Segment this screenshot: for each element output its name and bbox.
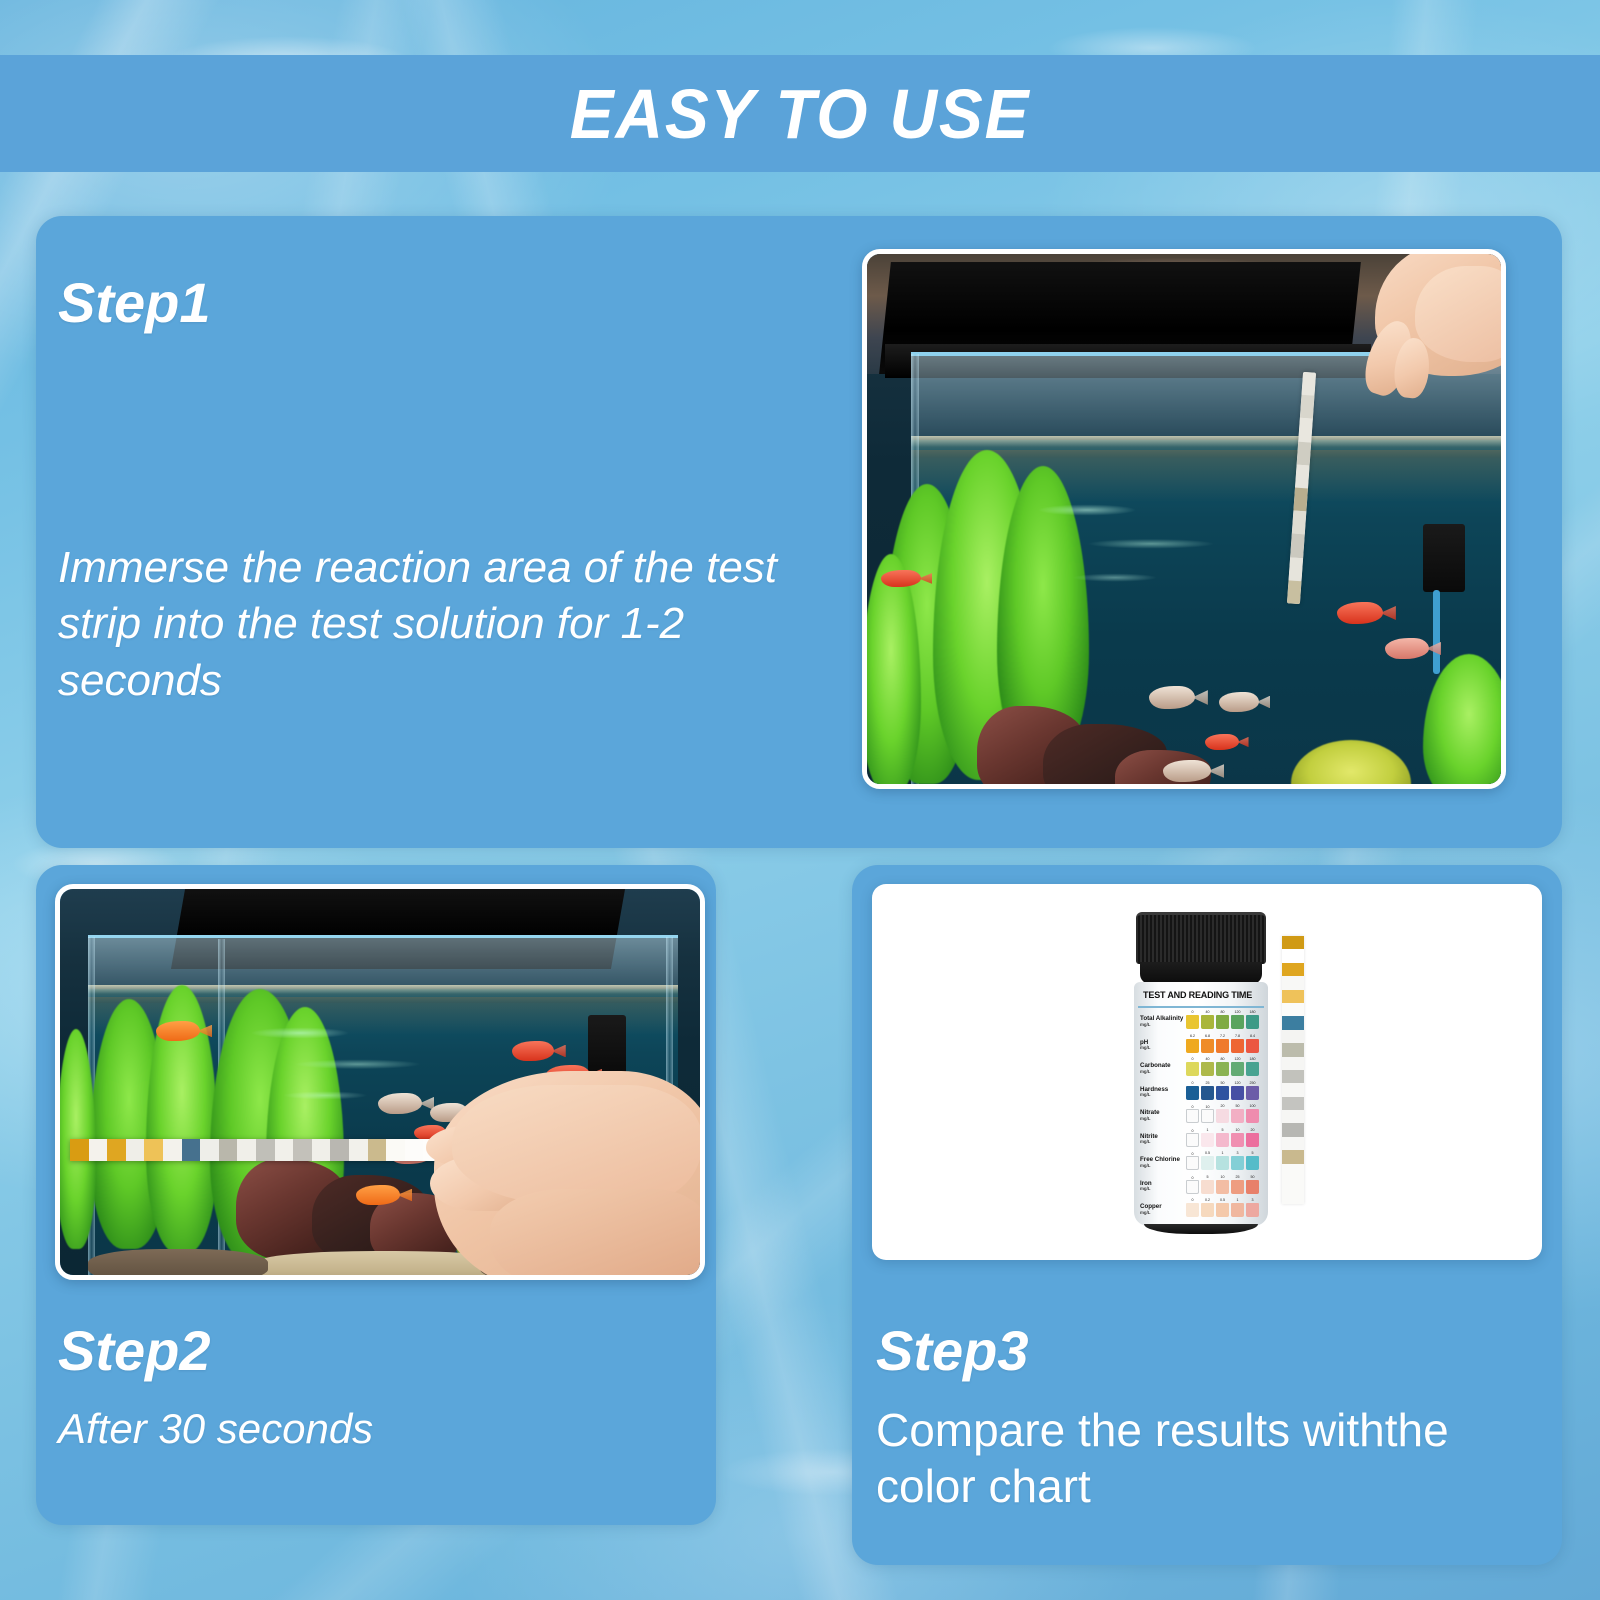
analyte-swatch-value: 0 [1186, 1081, 1199, 1085]
test-strip-pad [219, 1139, 238, 1161]
analyte-swatch-value: 120 [1231, 1057, 1244, 1061]
test-strip-pad [107, 1139, 126, 1161]
analyte-swatch-value: 3 [1231, 1151, 1244, 1155]
test-strip-pad [349, 1139, 368, 1161]
step2-description: After 30 seconds [58, 1402, 698, 1456]
analyte-swatch-value: 0 [1186, 1010, 1199, 1014]
bottle-chart-row-label: pHmg/L [1140, 1040, 1186, 1051]
analyte-swatch-value: 7.2 [1216, 1034, 1229, 1038]
analyte-swatch: 1 [1231, 1203, 1244, 1217]
bottle-chart-row: Coppermg/L00.20.513 [1140, 1200, 1264, 1220]
promo-page: EASY TO USE Step1 Immerse the reaction a… [0, 0, 1600, 1600]
analyte-unit: mg/L [1140, 1211, 1186, 1216]
filter-tube [1433, 590, 1440, 674]
analyte-swatch-value: 1 [1201, 1128, 1214, 1132]
analyte-swatch-value: 50 [1246, 1175, 1259, 1179]
analyte-swatch-value: 120 [1231, 1010, 1244, 1014]
analyte-swatch: 0.5 [1216, 1203, 1229, 1217]
bottle-chart-row: Ironmg/L05102550 [1140, 1177, 1264, 1197]
bottle-chart-row-label: Ironmg/L [1140, 1181, 1186, 1192]
analyte-swatch: 10 [1216, 1180, 1229, 1194]
analyte-swatch-value: 0 [1187, 1176, 1198, 1180]
analyte-swatch-value: 10 [1202, 1105, 1213, 1109]
test-strip-pad [275, 1139, 294, 1161]
analyte-swatch-value: 0.2 [1201, 1198, 1214, 1202]
analyte-unit: mg/L [1140, 1187, 1186, 1192]
analyte-swatch-value: 1 [1216, 1151, 1229, 1155]
bottle-chart-row-label: Nitratemg/L [1140, 1110, 1186, 1121]
analyte-swatch: 8.4 [1246, 1039, 1259, 1053]
tank-rim [88, 935, 678, 938]
analyte-swatch-value: 5 [1246, 1151, 1259, 1155]
test-strip-pad [1295, 464, 1310, 488]
bottle-label-header: TEST AND READING TIME [1143, 990, 1259, 1001]
analyte-swatch: 0 [1186, 1086, 1199, 1100]
held-test-strip [70, 1139, 442, 1161]
test-strip-pad [330, 1139, 349, 1161]
analyte-swatch-value: 5 [1216, 1128, 1229, 1132]
analyte-swatch-value: 0 [1187, 1105, 1198, 1109]
reference-test-strip [1282, 936, 1304, 1204]
bottle-chart-row: Nitritemg/L0151020 [1140, 1130, 1264, 1150]
analyte-swatch: 1 [1216, 1156, 1229, 1170]
analyte-swatch-row: 6.26.87.27.88.4 [1186, 1039, 1264, 1053]
analyte-swatch: 40 [1201, 1015, 1214, 1029]
analyte-swatch-value: 50 [1231, 1104, 1244, 1108]
analyte-swatch-value: 80 [1216, 1057, 1229, 1061]
bottle-cap [1136, 912, 1266, 964]
step1-description: Immerse the reaction area of the test st… [58, 540, 848, 709]
analyte-swatch-value: 0.5 [1216, 1198, 1229, 1202]
bottle-chart-row-label: Carbonatemg/L [1140, 1063, 1186, 1074]
test-strip-pad [368, 1139, 387, 1161]
step2-photo [55, 884, 705, 1280]
tank-filter [1423, 524, 1465, 592]
test-strip-pad [163, 1139, 182, 1161]
bottle-neck [1140, 962, 1262, 984]
bottle-chart-row-label: Hardnessmg/L [1140, 1087, 1186, 1098]
analyte-swatch-value: 8.4 [1246, 1034, 1259, 1038]
bottle-chart-row: Total Alkalinitymg/L04080120180 [1140, 1012, 1264, 1032]
tank-gravel [88, 1249, 268, 1275]
test-strip-pad [1298, 418, 1313, 442]
bottle-chart-row-label: Total Alkalinitymg/L [1140, 1016, 1186, 1027]
analyte-swatch: 5 [1246, 1156, 1259, 1170]
analyte-swatch: 1 [1201, 1133, 1214, 1147]
analyte-unit: mg/L [1140, 1164, 1186, 1169]
analyte-swatch-row: 0102050100 [1186, 1109, 1264, 1123]
bottle-chart-row-label: Coppermg/L [1140, 1204, 1186, 1215]
test-strip-pad [144, 1139, 163, 1161]
analyte-swatch-value: 180 [1246, 1057, 1259, 1061]
test-strip-pad [1282, 1137, 1304, 1150]
analyte-swatch-value: 20 [1216, 1104, 1229, 1108]
hand-palm [490, 1189, 700, 1275]
test-strip-pad [1282, 936, 1304, 949]
analyte-swatch-row: 05102550 [1186, 1180, 1264, 1194]
analyte-swatch-value: 5 [1201, 1175, 1214, 1179]
test-strip-pad [1300, 395, 1315, 419]
analyte-swatch: 10 [1201, 1109, 1214, 1123]
analyte-swatch: 0.5 [1201, 1156, 1214, 1170]
test-strip-pad [1282, 1150, 1304, 1163]
bottle-body: TEST AND READING TIME Total Alkalinitymg… [1134, 982, 1268, 1226]
test-strip-pad [1282, 1016, 1304, 1029]
analyte-swatch: 100 [1246, 1109, 1259, 1123]
test-strip-pad [70, 1139, 89, 1161]
test-strip-pad [1297, 441, 1312, 465]
test-strip-pad [1282, 976, 1304, 989]
analyte-swatch: 80 [1216, 1015, 1229, 1029]
test-strip-pad [312, 1139, 331, 1161]
analyte-swatch: 25 [1201, 1086, 1214, 1100]
analyte-swatch-value: 80 [1216, 1010, 1229, 1014]
analyte-swatch: 0 [1186, 1133, 1199, 1147]
analyte-swatch-value: 0 [1186, 1198, 1199, 1202]
analyte-swatch-value: 7.8 [1231, 1034, 1244, 1038]
analyte-swatch-value: 3 [1246, 1198, 1259, 1202]
analyte-swatch: 3 [1246, 1203, 1259, 1217]
analyte-swatch: 50 [1246, 1180, 1259, 1194]
analyte-swatch: 7.8 [1231, 1039, 1244, 1053]
analyte-swatch-value: 25 [1201, 1081, 1214, 1085]
step3-description: Compare the results withthe color chart [876, 1402, 1496, 1514]
analyte-swatch: 0 [1186, 1109, 1199, 1123]
test-strip-pad [1287, 580, 1302, 604]
analyte-swatch: 0 [1186, 1203, 1199, 1217]
test-strip-pad [1282, 949, 1304, 962]
analyte-swatch-value: 0.5 [1201, 1151, 1214, 1155]
analyte-swatch: 25 [1231, 1180, 1244, 1194]
analyte-unit: mg/L [1140, 1070, 1186, 1075]
test-strip-pad [293, 1139, 312, 1161]
step3-product-card: TEST AND READING TIME Total Alkalinitymg… [872, 884, 1542, 1260]
test-strip-pad [1282, 1083, 1304, 1096]
analyte-unit: mg/L [1140, 1140, 1186, 1145]
analyte-swatch: 20 [1246, 1133, 1259, 1147]
test-strip-pad [126, 1139, 145, 1161]
test-strip-pad [1282, 1070, 1304, 1083]
analyte-swatch: 50 [1216, 1086, 1229, 1100]
analyte-swatch-row: 0151020 [1186, 1133, 1264, 1147]
aquarium-scene-step1 [867, 254, 1501, 784]
test-strip-pad [1290, 534, 1305, 558]
analyte-swatch-value: 0 [1187, 1152, 1198, 1156]
analyte-swatch: 10 [1231, 1133, 1244, 1147]
bottle-color-chart: Total Alkalinitymg/L04080120180pHmg/L6.2… [1140, 1012, 1264, 1220]
analyte-swatch: 40 [1201, 1062, 1214, 1076]
analyte-swatch: 80 [1216, 1062, 1229, 1076]
analyte-swatch: 5 [1216, 1133, 1229, 1147]
bottle-base [1144, 1224, 1258, 1234]
analyte-swatch: 5 [1201, 1180, 1214, 1194]
test-strip-pad [1289, 557, 1304, 581]
step3-title: Step3 [876, 1318, 1029, 1383]
test-strip-pad [1282, 990, 1304, 1003]
analyte-swatch: 0.2 [1201, 1203, 1214, 1217]
analyte-swatch-value: 40 [1201, 1057, 1214, 1061]
test-strip-pad [89, 1139, 108, 1161]
bottle-chart-row: Carbonatemg/L04080120180 [1140, 1059, 1264, 1079]
analyte-unit: mg/L [1140, 1093, 1186, 1098]
test-strip-pad [1282, 1097, 1304, 1110]
analyte-swatch-value: 6.2 [1186, 1034, 1199, 1038]
analyte-swatch-value: 40 [1201, 1010, 1214, 1014]
hand-knuckles [452, 1085, 700, 1205]
analyte-swatch-value: 20 [1246, 1128, 1259, 1132]
test-strip-pad [182, 1139, 201, 1161]
test-strip-pad [1282, 1123, 1304, 1136]
analyte-swatch: 6.2 [1186, 1039, 1199, 1053]
analyte-swatch: 7.2 [1216, 1039, 1229, 1053]
analyte-swatch: 0 [1186, 1156, 1199, 1170]
test-strip-pad [1293, 487, 1308, 511]
analyte-swatch-value: 0 [1187, 1129, 1198, 1133]
analyte-swatch-value: 180 [1246, 1010, 1259, 1014]
analyte-swatch: 3 [1231, 1156, 1244, 1170]
bottle-label-divider [1138, 1006, 1264, 1008]
analyte-swatch: 6.8 [1201, 1039, 1214, 1053]
test-strip-pad [1282, 1043, 1304, 1056]
test-strip-pad [1282, 1164, 1304, 1177]
bottle-chart-row: Free Chlorinemg/L00.5135 [1140, 1153, 1264, 1173]
test-strip-pad [200, 1139, 219, 1161]
aquarium-scene-step2 [60, 889, 700, 1275]
bottle-chart-row: pHmg/L6.26.87.27.88.4 [1140, 1036, 1264, 1056]
analyte-swatch-value: 120 [1231, 1081, 1244, 1085]
analyte-swatch: 0 [1186, 1062, 1199, 1076]
analyte-swatch: 0 [1186, 1180, 1199, 1194]
page-title-band: EASY TO USE [0, 55, 1600, 172]
test-strip-pad [1292, 511, 1307, 535]
step2-title: Step2 [58, 1318, 211, 1383]
bottle-chart-row: Nitratemg/L0102050100 [1140, 1106, 1264, 1126]
page-title: EASY TO USE [570, 74, 1031, 154]
analyte-swatch-value: 0 [1186, 1057, 1199, 1061]
bottle-chart-row-label: Free Chlorinemg/L [1140, 1157, 1186, 1168]
analyte-swatch-row: 04080120180 [1186, 1062, 1264, 1076]
analyte-swatch: 0 [1186, 1015, 1199, 1029]
analyte-swatch-value: 10 [1231, 1128, 1244, 1132]
analyte-swatch-value: 10 [1216, 1175, 1229, 1179]
test-strip-pad [1301, 372, 1316, 396]
analyte-swatch-value: 1 [1231, 1198, 1244, 1202]
analyte-swatch-row: 02550120250 [1186, 1086, 1264, 1100]
analyte-unit: mg/L [1140, 1117, 1186, 1122]
tank-filter [588, 1015, 626, 1075]
test-strip-pad [1282, 1003, 1304, 1016]
analyte-swatch-value: 50 [1216, 1081, 1229, 1085]
test-strip-pad [237, 1139, 256, 1161]
analyte-swatch-value: 250 [1246, 1081, 1259, 1085]
bottle-chart-row-label: Nitritemg/L [1140, 1134, 1186, 1145]
bottle-chart-row: Hardnessmg/L02550120250 [1140, 1083, 1264, 1103]
analyte-swatch-value: 100 [1246, 1104, 1259, 1108]
analyte-swatch: 180 [1246, 1062, 1259, 1076]
analyte-swatch-value: 6.8 [1201, 1034, 1214, 1038]
analyte-unit: mg/L [1140, 1023, 1186, 1028]
analyte-swatch: 250 [1246, 1086, 1259, 1100]
analyte-swatch-row: 04080120180 [1186, 1015, 1264, 1029]
analyte-swatch: 180 [1246, 1015, 1259, 1029]
step1-photo [862, 249, 1506, 789]
test-strip-pad [405, 1139, 424, 1161]
test-strip-pad [1282, 1057, 1304, 1070]
analyte-swatch-row: 00.20.513 [1186, 1203, 1264, 1217]
analyte-swatch: 120 [1231, 1086, 1244, 1100]
analyte-swatch-value: 25 [1231, 1175, 1244, 1179]
test-strip-pad [1282, 1177, 1304, 1190]
analyte-swatch: 120 [1231, 1062, 1244, 1076]
analyte-swatch: 120 [1231, 1015, 1244, 1029]
test-strip-pad [256, 1139, 275, 1161]
analyte-unit: mg/L [1140, 1046, 1186, 1051]
test-strip-pad [1282, 1110, 1304, 1123]
test-strip-pad [386, 1139, 405, 1161]
analyte-swatch-row: 00.5135 [1186, 1156, 1264, 1170]
analyte-swatch: 50 [1231, 1109, 1244, 1123]
test-strip-pad [1282, 1190, 1304, 1203]
test-strip-pad [1282, 963, 1304, 976]
step1-title: Step1 [58, 270, 211, 335]
test-strip-pad [1282, 1030, 1304, 1043]
test-strip-bottle: TEST AND READING TIME Total Alkalinitymg… [1130, 912, 1272, 1234]
analyte-swatch: 20 [1216, 1109, 1229, 1123]
